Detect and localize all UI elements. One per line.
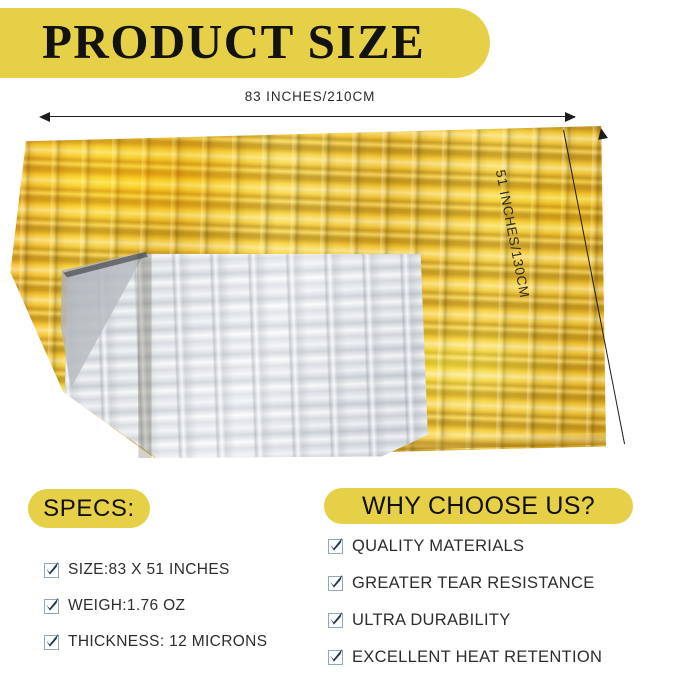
checkbox-checked-icon (328, 613, 343, 628)
page-title: PRODUCT SIZE (42, 8, 482, 78)
width-dimension-label: 83 INCHES/210CM (180, 89, 440, 104)
list-item: ULTRA DURABILITY (328, 602, 679, 639)
list-item-label: SIZE:83 X 51 INCHES (68, 561, 230, 579)
checkbox-checked-icon (44, 563, 59, 578)
list-item-label: WEIGH:1.76 OZ (68, 597, 185, 615)
list-item: GREATER TEAR RESISTANCE (328, 565, 679, 602)
specs-heading-label: SPECS: (43, 495, 135, 523)
checkbox-checked-icon (328, 576, 343, 591)
list-item-label: GREATER TEAR RESISTANCE (352, 574, 595, 593)
specs-heading-badge: SPECS: (28, 489, 150, 528)
specs-list: SIZE:83 X 51 INCHES WEIGH:1.76 OZ THICKN… (44, 552, 324, 660)
why-choose-us-heading-label: WHY CHOOSE US? (362, 492, 595, 521)
arrow-right-icon (565, 112, 576, 122)
list-item: EXCELLENT HEAT RETENTION (328, 639, 679, 676)
checkbox-checked-icon (44, 635, 59, 650)
list-item-label: QUALITY MATERIALS (352, 537, 524, 556)
list-item: THICKNESS: 12 MICRONS (44, 624, 324, 660)
width-dimension-line (45, 116, 575, 117)
arrow-left-icon (39, 112, 50, 122)
checkbox-checked-icon (44, 599, 59, 614)
list-item: QUALITY MATERIALS (328, 528, 679, 565)
list-item-label: THICKNESS: 12 MICRONS (68, 633, 267, 651)
list-item: SIZE:83 X 51 INCHES (44, 552, 324, 588)
checkbox-checked-icon (328, 539, 343, 554)
checkbox-checked-icon (328, 650, 343, 665)
arrow-up-icon (596, 127, 608, 140)
why-choose-us-list: QUALITY MATERIALS GREATER TEAR RESISTANC… (328, 528, 679, 676)
list-item-label: EXCELLENT HEAT RETENTION (352, 648, 602, 667)
list-item-label: ULTRA DURABILITY (352, 611, 511, 630)
why-choose-us-heading-badge: WHY CHOOSE US? (324, 488, 633, 524)
list-item: WEIGH:1.76 OZ (44, 588, 324, 624)
